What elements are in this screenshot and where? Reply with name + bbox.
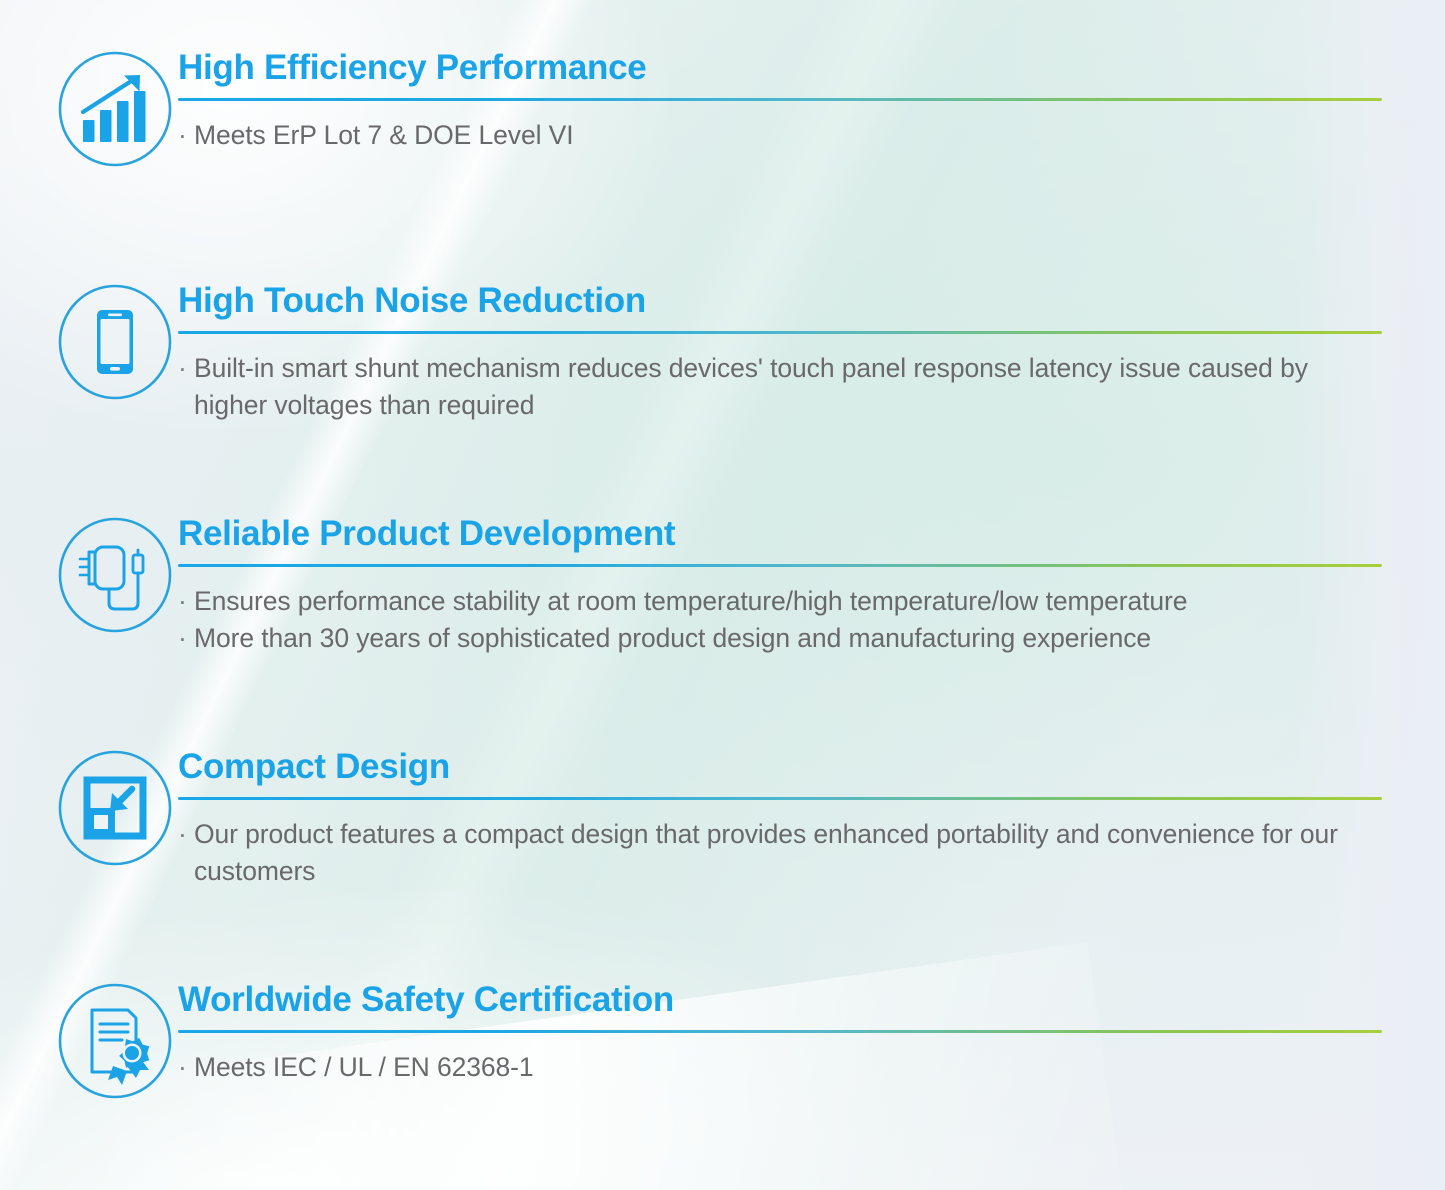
feature-icon-wrap xyxy=(52,281,178,401)
bullet-marker: · xyxy=(178,1049,194,1087)
bullet-marker: · xyxy=(178,117,194,155)
feature-bullet: · Ensures performance stability at room … xyxy=(178,583,1382,621)
feature-bullet: · Meets IEC / UL / EN 62368-1 xyxy=(178,1049,1382,1087)
compact-resize-icon xyxy=(56,749,174,867)
feature-item-reliable-product-development: Reliable Product Development · Ensures p… xyxy=(52,514,1382,658)
feature-title: Compact Design xyxy=(178,749,1382,786)
bullet-text: Meets ErP Lot 7 & DOE Level VI xyxy=(194,117,1382,155)
smartphone-icon xyxy=(56,283,174,401)
feature-list: High Efficiency Performance · Meets ErP … xyxy=(0,0,1445,1190)
feature-bullet-list: · Ensures performance stability at room … xyxy=(178,583,1382,658)
feature-bullet-list: · Meets ErP Lot 7 & DOE Level VI xyxy=(178,117,1382,155)
feature-icon-wrap xyxy=(52,48,178,168)
bullet-marker: · xyxy=(178,816,194,854)
feature-item-compact-design: Compact Design · Our product features a … xyxy=(52,747,1382,891)
feature-bullet-list: · Built-in smart shunt mechanism reduces… xyxy=(178,350,1382,425)
feature-text-column: High Efficiency Performance · Meets ErP … xyxy=(178,48,1382,154)
feature-bullet: · Meets ErP Lot 7 & DOE Level VI xyxy=(178,117,1382,155)
feature-bullet: · Built-in smart shunt mechanism reduces… xyxy=(178,350,1382,425)
feature-icon-wrap xyxy=(52,980,178,1100)
certificate-seal-icon xyxy=(56,982,174,1100)
feature-divider xyxy=(178,797,1382,800)
feature-bullet: · Our product features a compact design … xyxy=(178,816,1382,891)
feature-title: High Touch Noise Reduction xyxy=(178,283,1382,320)
feature-title: High Efficiency Performance xyxy=(178,50,1382,87)
feature-divider xyxy=(178,98,1382,101)
feature-title: Reliable Product Development xyxy=(178,516,1382,553)
bar-chart-growth-icon xyxy=(56,50,174,168)
bullet-text: More than 30 years of sophisticated prod… xyxy=(194,620,1382,658)
feature-icon-wrap xyxy=(52,514,178,634)
bullet-marker: · xyxy=(178,350,194,388)
feature-title: Worldwide Safety Certification xyxy=(178,982,1382,1019)
feature-text-column: Compact Design · Our product features a … xyxy=(178,747,1382,891)
bullet-text: Ensures performance stability at room te… xyxy=(194,583,1382,621)
feature-item-worldwide-safety-certification: Worldwide Safety Certification · Meets I… xyxy=(52,980,1382,1100)
feature-highlights-page: High Efficiency Performance · Meets ErP … xyxy=(0,0,1445,1190)
feature-divider xyxy=(178,1030,1382,1033)
feature-item-high-efficiency-performance: High Efficiency Performance · Meets ErP … xyxy=(52,48,1382,168)
bullet-text: Our product features a compact design th… xyxy=(194,816,1382,891)
feature-text-column: Worldwide Safety Certification · Meets I… xyxy=(178,980,1382,1086)
feature-divider xyxy=(178,564,1382,567)
bullet-text: Meets IEC / UL / EN 62368-1 xyxy=(194,1049,1382,1087)
feature-bullet: · More than 30 years of sophisticated pr… xyxy=(178,620,1382,658)
feature-bullet-list: · Meets IEC / UL / EN 62368-1 xyxy=(178,1049,1382,1087)
bullet-text: Built-in smart shunt mechanism reduces d… xyxy=(194,350,1382,425)
feature-icon-wrap xyxy=(52,747,178,867)
feature-bullet-list: · Our product features a compact design … xyxy=(178,816,1382,891)
bullet-marker: · xyxy=(178,620,194,658)
power-adapter-icon xyxy=(56,516,174,634)
bullet-marker: · xyxy=(178,583,194,621)
feature-text-column: Reliable Product Development · Ensures p… xyxy=(178,514,1382,658)
feature-text-column: High Touch Noise Reduction · Built-in sm… xyxy=(178,281,1382,425)
feature-divider xyxy=(178,331,1382,334)
feature-item-high-touch-noise-reduction: High Touch Noise Reduction · Built-in sm… xyxy=(52,281,1382,425)
